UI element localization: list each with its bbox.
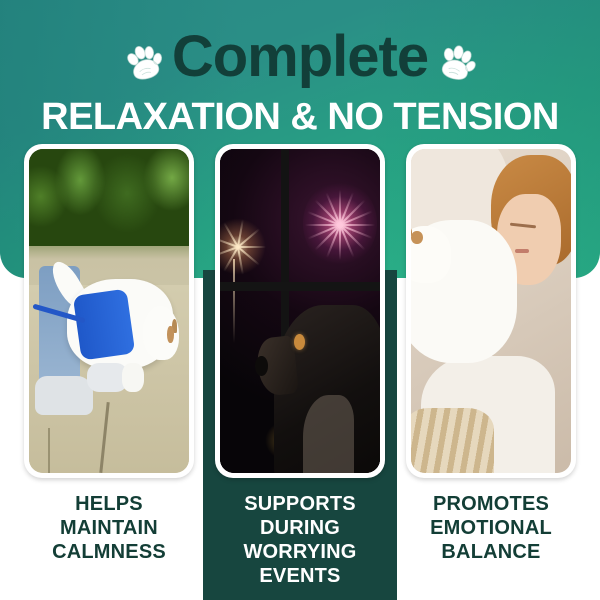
- paw-print-icon: [432, 39, 480, 87]
- caption-block-1: HELPS MAINTAIN CALMNESS: [20, 478, 198, 564]
- paw-print-icon: [119, 38, 168, 87]
- photo-card-2: [215, 144, 385, 478]
- benefit-caption-3-line-1: PROMOTES: [402, 492, 580, 516]
- benefit-caption-3-line-2: EMOTIONAL: [402, 516, 580, 540]
- benefit-caption-2-line-2: DURING: [211, 516, 389, 540]
- benefit-caption-2-line-3: WORRYING: [211, 540, 389, 564]
- page-subtitle: RELAXATION & NO TENSION: [0, 96, 600, 138]
- caption-block-2: SUPPORTS DURING WORRYING EVENTS: [211, 478, 389, 588]
- benefit-caption-1-line-3: CALMNESS: [20, 540, 198, 564]
- dog-watching-fireworks-photo: [220, 149, 380, 473]
- benefit-caption-2-line-1: SUPPORTS: [211, 492, 389, 516]
- benefit-caption-1-line-2: MAINTAIN: [20, 516, 198, 540]
- dog-walking-on-leash-photo: [29, 149, 189, 473]
- photo-card-1: [24, 144, 194, 478]
- promotional-poster: Complete: [0, 0, 600, 600]
- benefit-caption-2-line-4: EVENTS: [211, 564, 389, 588]
- page-title: Complete: [172, 28, 428, 86]
- photo-card-3: [406, 144, 576, 478]
- child-sleeping-with-dog-photo: [411, 149, 571, 473]
- caption-block-3: PROMOTES EMOTIONAL BALANCE: [402, 478, 580, 564]
- headline-block: Complete: [0, 0, 600, 138]
- benefit-caption-3-line-3: BALANCE: [402, 540, 580, 564]
- benefit-caption-1-line-1: HELPS: [20, 492, 198, 516]
- title-row: Complete: [0, 16, 600, 98]
